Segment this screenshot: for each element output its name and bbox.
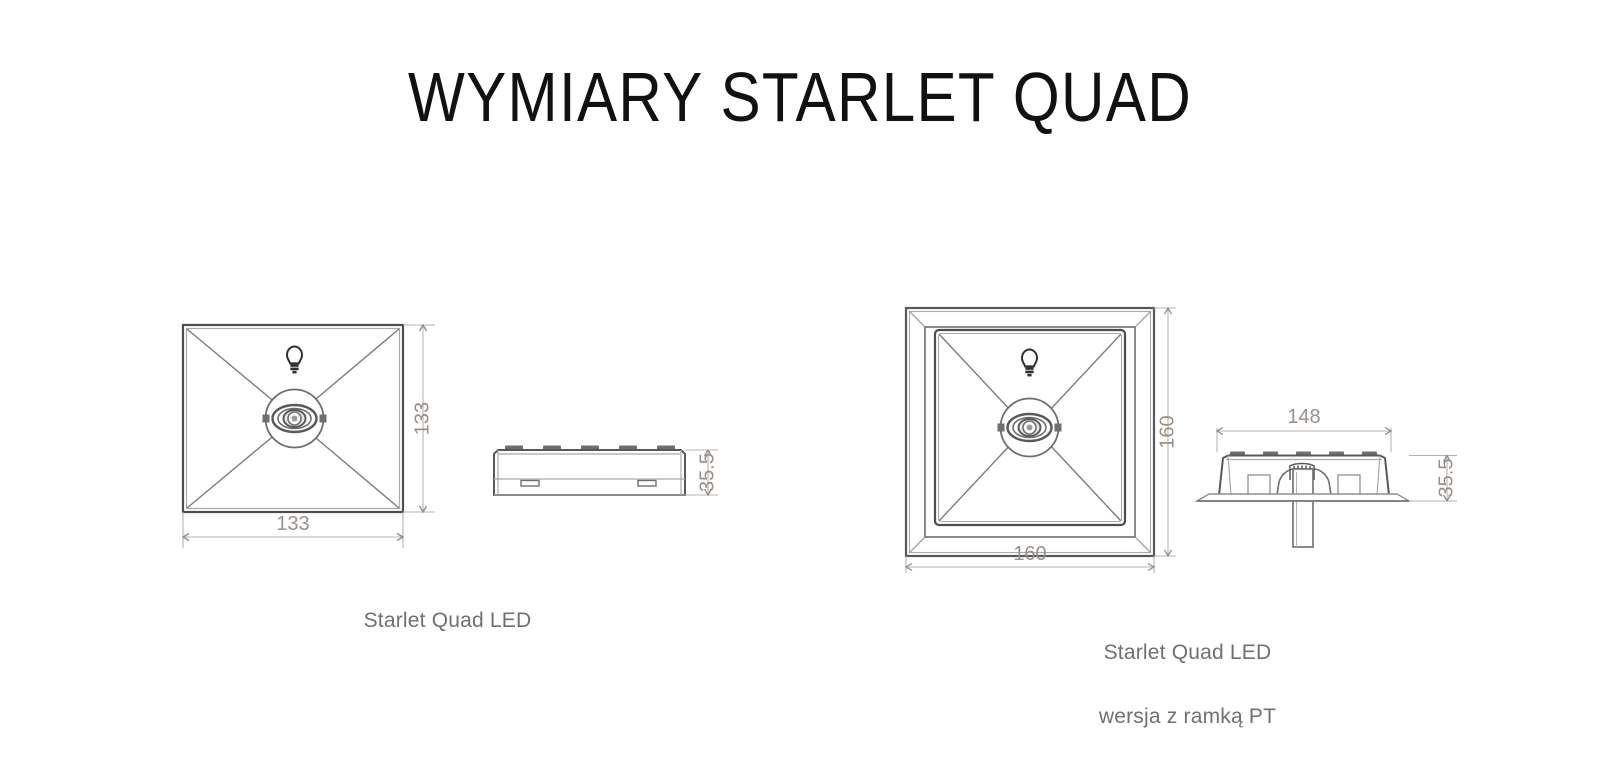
dimension-label-left-height: 133 xyxy=(411,402,433,435)
figure-starlet-quad-led-pt-top: 160 160 xyxy=(880,290,1180,575)
dimension-label-left-width: 133 xyxy=(276,513,309,535)
slide-canvas: WYMIARY STARLET QUAD xyxy=(0,0,1600,763)
dimension-label-right-side-width: 148 xyxy=(1287,406,1320,428)
page-title: WYMIARY STARLET QUAD xyxy=(112,58,1488,136)
caption-line-1: Starlet Quad LED xyxy=(1000,637,1375,669)
caption-starlet-quad-led: Starlet Quad LED xyxy=(260,605,635,637)
dimension-label-right-width: 160 xyxy=(1013,543,1046,565)
caption-line-2: wersja z ramką PT xyxy=(1000,701,1375,733)
dimension-label-left-side-height: 35.5 xyxy=(696,453,718,492)
side-body xyxy=(494,446,685,496)
figure-starlet-quad-led-top: 133 133 xyxy=(150,300,440,570)
figure-starlet-quad-led-pt-side: 148 xyxy=(1195,390,1495,565)
dimension-label-right-side-height: 35.5 xyxy=(1435,459,1457,498)
figure-starlet-quad-led-side: 35.5 xyxy=(480,430,730,525)
dimension-side-width-148 xyxy=(1217,428,1391,453)
dimension-label-right-height: 160 xyxy=(1156,415,1178,448)
caption-starlet-quad-led-pt: Starlet Quad LED wersja z ramką PT xyxy=(1000,605,1375,765)
side-body-framed xyxy=(1197,452,1409,548)
